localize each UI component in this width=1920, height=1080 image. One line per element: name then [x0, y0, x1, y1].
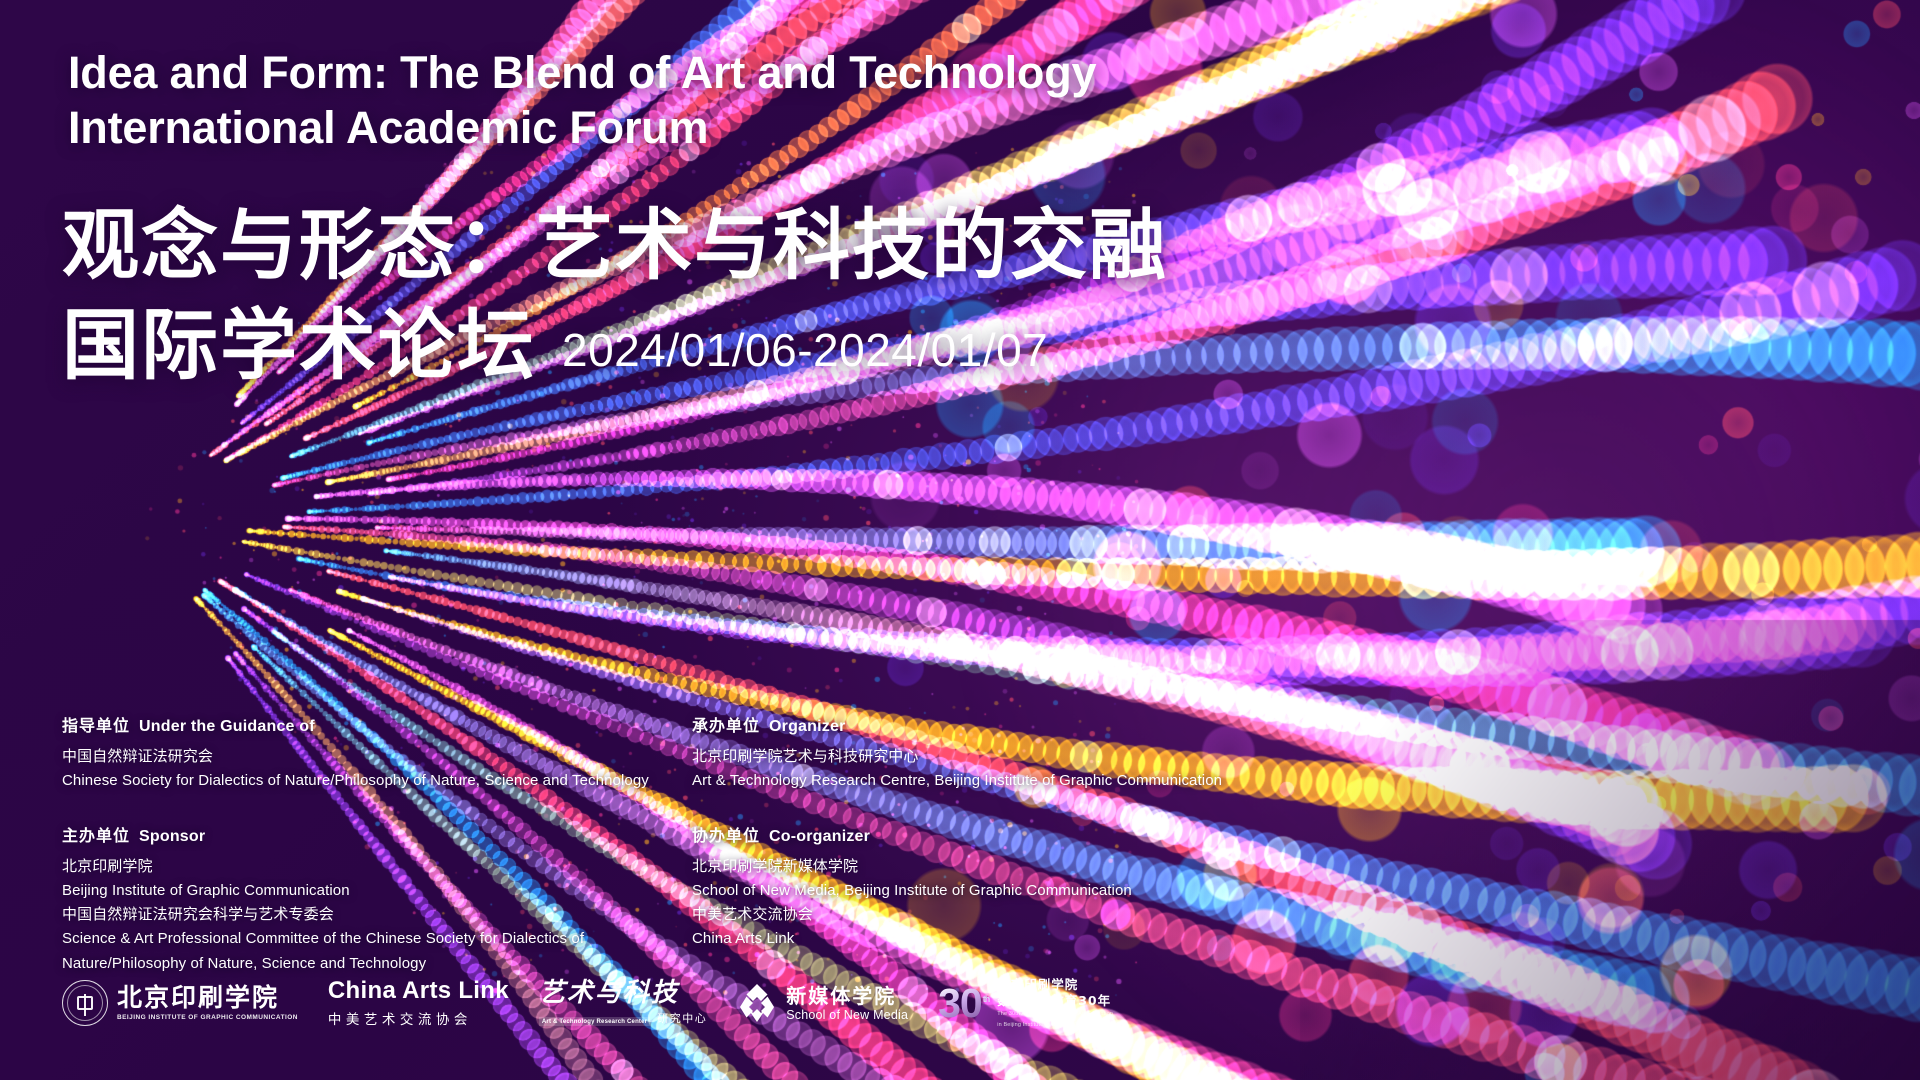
logo-bigc-text: 北京印刷学院 BEIJING INSTITUTE OF GRAPHIC COMM… — [117, 985, 298, 1021]
poster-canvas: Idea and Form: The Blend of Art and Tech… — [0, 0, 1920, 1080]
credit-line: Nature/Philosophy of Nature, Science and… — [62, 952, 692, 976]
credit-heading-en: Co-organizer — [769, 828, 870, 845]
credit-line: 中国自然辩证法研究会科学与艺术专委会 — [62, 903, 692, 927]
credit-heading: 协办单位Co-organizer — [692, 822, 1242, 846]
anniversary-text: 北京印刷学院 数字艺术教育30年 The 30th Anniversary of… — [997, 977, 1114, 1029]
page-title-chinese: 观念与形态：艺术与科技的交融 国际学术论坛 2024/01/06-2024/01… — [62, 196, 1168, 396]
poster-content: Idea and Form: The Blend of Art and Tech… — [0, 0, 1920, 1080]
anniversary-line3a: The 30th Anniversary of Digital Art Educ… — [997, 1010, 1114, 1018]
credit-heading: 指导单位Under the Guidance of — [62, 712, 692, 736]
anniversary-number-text: 30 — [938, 980, 982, 1026]
logo-school-of-new-media: 新媒体学院 School of New Media — [737, 975, 908, 1031]
credit-heading: 承办单位Organizer — [692, 712, 1242, 736]
logo-bigc-cn: 北京印刷学院 — [117, 985, 298, 1010]
logo-bigc-en: BEIJING INSTITUTE OF GRAPHIC COMMUNICATI… — [117, 1014, 298, 1021]
credit-line: Science & Art Professional Committee of … — [62, 927, 692, 951]
credit-line: 北京印刷学院 — [62, 855, 692, 879]
logo-atrc-sub: Art & Technology Research Center 研究中心 — [539, 1010, 707, 1026]
credit-line: China Arts Link — [692, 927, 1242, 951]
credit-line: Beijing Institute of Graphic Communicati… — [62, 879, 692, 903]
title-cn-line2: 国际学术论坛 — [62, 296, 536, 396]
anniversary-line2: 数字艺术教育30年 — [997, 993, 1114, 1009]
credit-block: 主办单位Sponsor北京印刷学院Beijing Institute of Gr… — [62, 822, 692, 976]
new-media-diamond-icon — [737, 983, 777, 1023]
page-title-english: Idea and Form: The Blend of Art and Tech… — [68, 46, 1288, 156]
logo-snm-text: 新媒体学院 School of New Media — [786, 985, 908, 1022]
credit-heading-cn: 协办单位 — [692, 828, 760, 845]
logo-cal-cn: 中美艺术交流协会 — [328, 1008, 509, 1028]
university-seal-icon — [62, 980, 108, 1026]
credit-line: 北京印刷学院艺术与科技研究中心 — [692, 745, 1242, 769]
credit-heading-cn: 主办单位 — [62, 828, 130, 845]
credit-line: School of New Media, Beijing Institute o… — [692, 879, 1242, 903]
logo-atrc-text: 艺术与科技 Art & Technology Research Center 研… — [539, 980, 707, 1026]
anniversary-th-suffix: th — [983, 994, 990, 1004]
logo-snm-cn: 新媒体学院 — [786, 985, 908, 1007]
credits-grid: 指导单位Under the Guidance of中国自然辩证法研究会Chine… — [62, 712, 1242, 976]
credit-heading-cn: 承办单位 — [692, 718, 760, 735]
logo-china-arts-link: China Arts Link 中美艺术交流协会 — [328, 975, 509, 1031]
credit-heading-en: Sponsor — [139, 828, 205, 845]
logo-row: 北京印刷学院 BEIJING INSTITUTE OF GRAPHIC COMM… — [62, 975, 1114, 1031]
credit-heading-cn: 指导单位 — [62, 718, 130, 735]
logo-30th-anniversary: 30th 北京印刷学院 数字艺术教育30年 The 30th Anniversa… — [938, 975, 1114, 1031]
credit-line: Chinese Society for Dialectics of Nature… — [62, 769, 692, 793]
event-date: 2024/01/06-2024/01/07 — [562, 321, 1048, 381]
seal-book-icon — [77, 996, 93, 1010]
credit-block: 协办单位Co-organizer北京印刷学院新媒体学院School of New… — [692, 822, 1242, 976]
title-cn-line1: 观念与形态：艺术与科技的交融 — [62, 196, 1168, 296]
credit-block: 指导单位Under the Guidance of中国自然辩证法研究会Chine… — [62, 712, 692, 794]
anniversary-line3b: in Beijing Institute of Graphic Communic… — [997, 1021, 1114, 1029]
credit-line: Art & Technology Research Centre, Beijin… — [692, 769, 1242, 793]
logo-snm-en: School of New Media — [786, 1008, 908, 1022]
logo-atrc-cn: 艺术与科技 — [539, 980, 707, 1006]
logo-cal-text: China Arts Link 中美艺术交流协会 — [328, 978, 509, 1027]
logo-art-tech-centre: 艺术与科技 Art & Technology Research Center 研… — [539, 975, 707, 1031]
credit-heading: 主办单位Sponsor — [62, 822, 692, 846]
anniversary-line1: 北京印刷学院 — [997, 977, 1114, 993]
title-en-line2: International Academic Forum — [68, 101, 1288, 156]
logo-atrc-cn2: 研究中心 — [657, 1010, 707, 1026]
title-cn-line2-row: 国际学术论坛 2024/01/06-2024/01/07 — [62, 296, 1168, 396]
logo-bigc: 北京印刷学院 BEIJING INSTITUTE OF GRAPHIC COMM… — [62, 975, 298, 1031]
credit-line: 北京印刷学院新媒体学院 — [692, 855, 1242, 879]
credit-line: 中国自然辩证法研究会 — [62, 745, 692, 769]
title-en-line1: Idea and Form: The Blend of Art and Tech… — [68, 47, 1096, 98]
credit-heading-en: Organizer — [769, 718, 846, 735]
logo-atrc-en: Art & Technology Research Center — [539, 1017, 650, 1026]
credit-block: 承办单位Organizer北京印刷学院艺术与科技研究中心Art & Techno… — [692, 712, 1242, 794]
logo-cal-en: China Arts Link — [328, 978, 509, 1003]
anniversary-number: 30th — [938, 983, 989, 1024]
credit-line: 中美艺术交流协会 — [692, 903, 1242, 927]
credit-heading-en: Under the Guidance of — [139, 718, 315, 735]
